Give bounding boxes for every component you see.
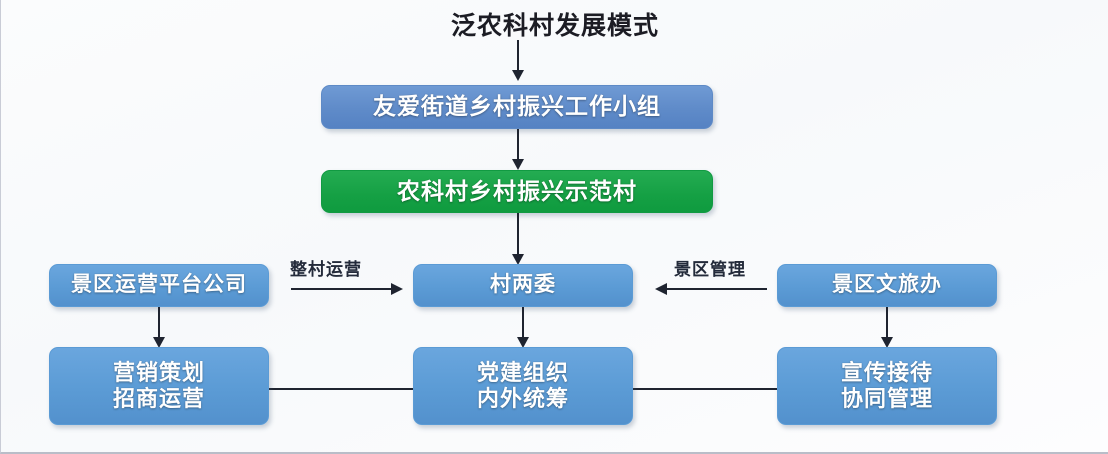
node-platform-company[interactable]: 景区运营平台公司 xyxy=(49,264,269,307)
arrow-down-icon-working-group-to-demo-village xyxy=(512,159,524,170)
arrow-right-icon-platform-to-village-committees xyxy=(391,283,403,295)
node-culture-tourism-office[interactable]: 景区文旅办 xyxy=(777,264,997,307)
node-party-building[interactable]: 党建组织 内外统筹 xyxy=(413,347,633,425)
arrow-left-icon-culture-tourism-to-village-committees xyxy=(655,283,667,295)
connector-title-to-working-group xyxy=(517,40,519,70)
connector-platform-to-village-committees xyxy=(291,288,391,290)
connector-marketing-to-party-building xyxy=(269,388,413,390)
connector-working-group-to-demo-village xyxy=(517,129,519,159)
connector-culture-tourism-to-publicity xyxy=(886,307,888,337)
edge-label-whole-village-operation: 整村运营 xyxy=(290,255,362,280)
node-village-committees[interactable]: 村两委 xyxy=(413,264,633,307)
diagram-title: 泛农科村发展模式 xyxy=(1,6,1108,42)
node-working-group[interactable]: 友爱街道乡村振兴工作小组 xyxy=(321,85,713,129)
connector-village-committees-to-party-building xyxy=(522,307,524,337)
diagram-canvas: 泛农科村发展模式 友爱街道乡村振兴工作小组 农科村乡村振兴示范村 景区运营平台公… xyxy=(0,0,1108,454)
edge-label-scenic-area-management: 景区管理 xyxy=(674,255,746,280)
connector-party-building-to-publicity xyxy=(633,388,777,390)
node-publicity[interactable]: 宣传接待 协同管理 xyxy=(777,347,997,425)
connector-demo-village-to-village-committees xyxy=(517,213,519,254)
connector-culture-tourism-to-village-committees xyxy=(667,288,767,290)
node-marketing[interactable]: 营销策划 招商运营 xyxy=(49,347,269,425)
node-demo-village[interactable]: 农科村乡村振兴示范村 xyxy=(321,170,713,213)
arrow-down-icon-title-to-working-group xyxy=(512,70,524,81)
connector-platform-to-marketing xyxy=(158,307,160,337)
